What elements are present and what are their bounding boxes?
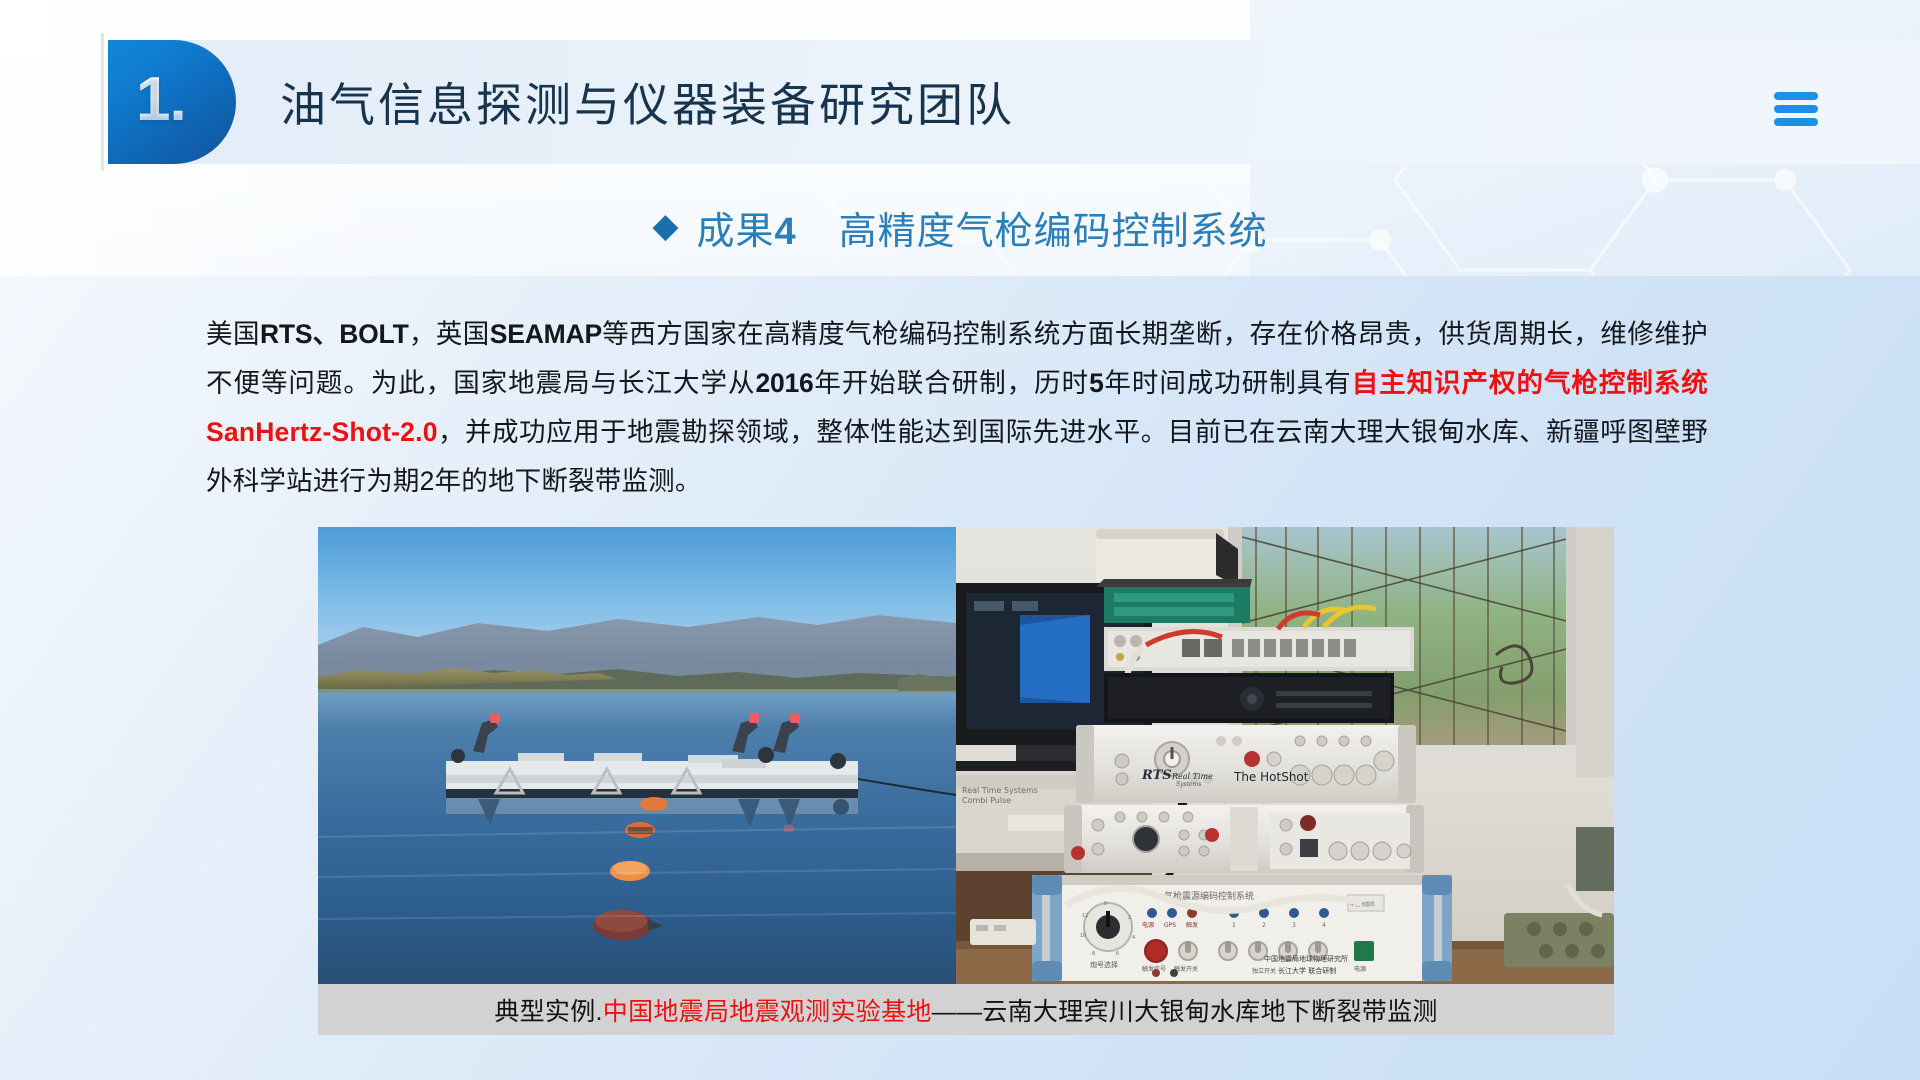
svg-text:Real Time: Real Time xyxy=(1171,772,1213,781)
svg-text:2: 2 xyxy=(1262,922,1266,929)
para-seg-8-bold: 5 xyxy=(1089,368,1104,398)
airgun-control-equipment-rack-photo: Real Time Systems Combi Pulse xyxy=(956,527,1614,984)
svg-text:12: 12 xyxy=(1082,913,1088,919)
para-seg-9: 年时间成功研制具有 xyxy=(1104,368,1352,398)
para-seg-7: 年开始联合研制，历时 xyxy=(814,368,1089,398)
institute-line2-text: 长江大学 联合研制 xyxy=(1278,966,1336,975)
hamburger-menu-icon[interactable] xyxy=(1774,92,1818,126)
knob-label-text: 炮号选择 xyxy=(1090,960,1118,969)
svg-text:4: 4 xyxy=(1132,935,1135,941)
figure-caption: 典型实例. 中国地震局地震观测实验基地——云南大理宾川大银甸水库地下断裂带监测 xyxy=(318,984,1614,1035)
svg-text:1: 1 xyxy=(1232,922,1236,929)
svg-text:4: 4 xyxy=(1322,922,1326,929)
section-number-badge: 1. xyxy=(108,40,236,164)
reservoir-airgun-platform-photo xyxy=(318,527,956,984)
diamond-bullet-icon: ◆ xyxy=(652,209,678,243)
para-seg-2-bold: RTS、BOLT xyxy=(260,319,409,349)
section-number-label: 1. xyxy=(136,69,186,135)
svg-text:独立开关: 独立开关 xyxy=(1252,967,1276,975)
para-seg-1: 美国 xyxy=(206,319,260,349)
header-left-rule xyxy=(101,33,104,171)
rts-brand-text: RTS xyxy=(1141,768,1172,783)
figure-block: Real Time Systems Combi Pulse xyxy=(318,527,1614,1035)
subtitle-label: 成果4 xyxy=(696,200,796,255)
svg-text:GPS: GPS xyxy=(1164,922,1176,929)
svg-text:6: 6 xyxy=(1116,951,1119,957)
svg-text:电源: 电源 xyxy=(1354,965,1366,973)
svg-text:0: 0 xyxy=(1104,901,1107,907)
hamburger-bar-2 xyxy=(1774,105,1818,113)
svg-text:触发: 触发 xyxy=(1186,921,1198,929)
hamburger-bar-1 xyxy=(1774,92,1818,100)
subtitle-text: 高精度气枪编码控制系统 xyxy=(839,200,1268,255)
photo-row: Real Time Systems Combi Pulse xyxy=(318,527,1614,984)
svg-text:Combi Pulse: Combi Pulse xyxy=(962,796,1011,805)
para-seg-3: ，英国 xyxy=(409,319,490,349)
para-seg-6-bold: 2016 xyxy=(755,368,813,398)
institute-line1-text: 中国地震局地球物理研究所 xyxy=(1264,954,1348,963)
hotshot-model-text: The HotShot xyxy=(1233,770,1309,784)
hamburger-bar-3 xyxy=(1774,118,1818,126)
svg-text:Real Time Systems: Real Time Systems xyxy=(962,786,1038,795)
body-paragraph: 美国RTS、BOLT，英国SEAMAP等西方国家在高精度气枪编码控制系统方面长期… xyxy=(206,310,1708,506)
svg-text:3: 3 xyxy=(1292,922,1296,929)
svg-text:10: 10 xyxy=(1080,933,1086,939)
svg-text:Systems: Systems xyxy=(1176,781,1201,788)
caption-prefix: 典型实例. xyxy=(494,992,602,1028)
svg-text:8: 8 xyxy=(1092,951,1095,957)
page-title: 油气信息探测与仪器装备研究团队 xyxy=(280,40,1015,164)
slide-canvas: 1. 油气信息探测与仪器装备研究团队 ◆ 成果4 高精度气枪编码控制系统 美国R… xyxy=(0,0,1920,1080)
caption-highlight: 中国地震局地震观测实验基地 xyxy=(603,992,932,1028)
section-subtitle: ◆ 成果4 高精度气枪编码控制系统 xyxy=(0,200,1920,255)
svg-text:2: 2 xyxy=(1128,915,1131,921)
svg-text:电源: 电源 xyxy=(1142,921,1154,929)
caption-suffix: ——云南大理宾川大银甸水库地下断裂带监测 xyxy=(932,992,1438,1028)
para-seg-4-bold: SEAMAP xyxy=(490,319,602,349)
